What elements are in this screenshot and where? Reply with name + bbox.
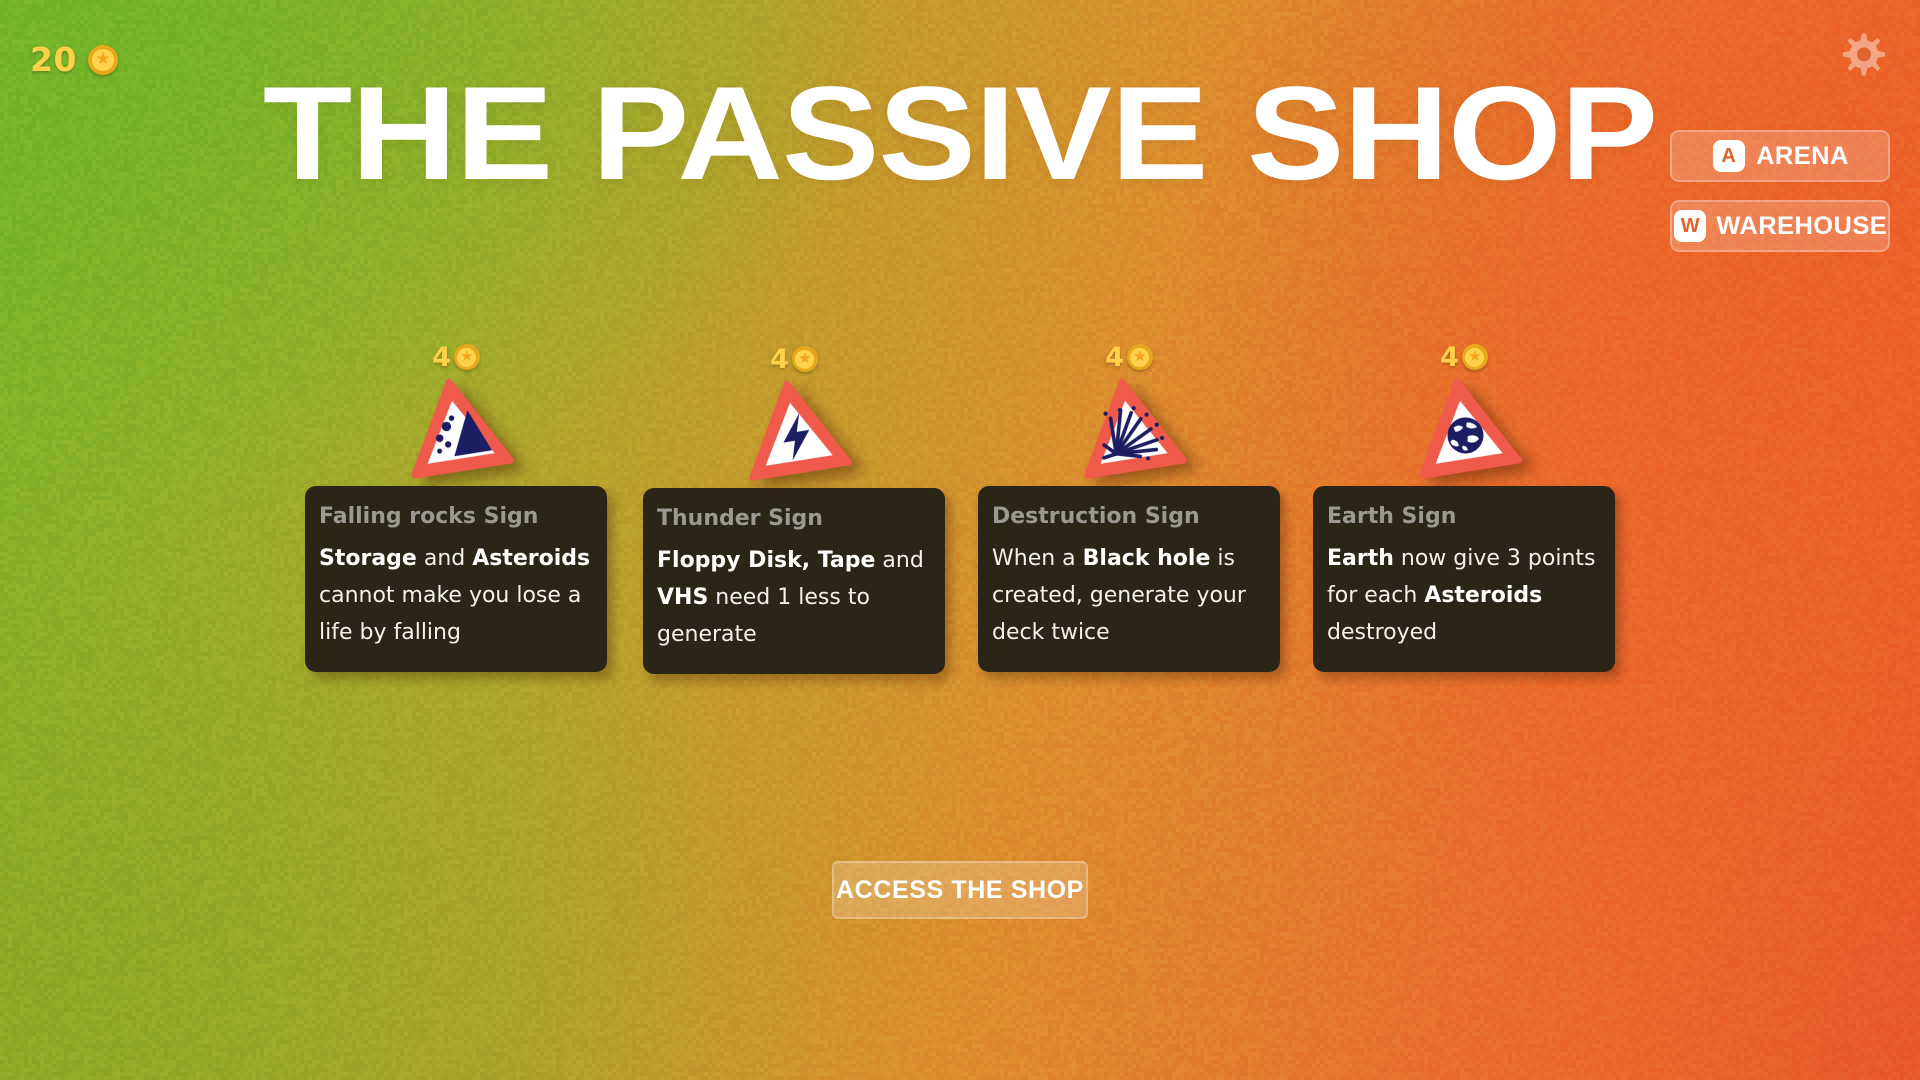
falling-rocks-sign-icon[interactable] <box>396 368 516 483</box>
shop-item[interactable]: 4 ★ <box>961 340 1297 672</box>
star-coin-icon: ★ <box>792 346 818 372</box>
item-tooltip: Thunder Sign Floppy Disk, Tape and VHS n… <box>643 488 945 674</box>
gear-icon[interactable] <box>1834 30 1890 86</box>
item-price: 4 ★ <box>770 342 818 376</box>
item-tooltip: Destruction Sign When a Black hole is cr… <box>978 486 1280 672</box>
item-description: When a Black hole is created, generate y… <box>992 541 1266 652</box>
nav-buttons: A ARENA W WAREHOUSE <box>1670 130 1890 252</box>
item-description: Storage and Asteroids cannot make you lo… <box>319 541 593 652</box>
destruction-sign-icon[interactable] <box>1069 368 1189 483</box>
item-tooltip: Earth Sign Earth now give 3 points for e… <box>1313 486 1615 672</box>
access-the-shop-label: ACCESS THE SHOP <box>836 876 1084 905</box>
item-price-value: 4 <box>770 344 789 375</box>
item-price: 4 ★ <box>432 340 480 374</box>
coin-amount: 20 <box>30 40 77 79</box>
item-price-value: 4 <box>432 342 451 373</box>
key-badge-w-icon: W <box>1674 210 1706 242</box>
warehouse-button[interactable]: W WAREHOUSE <box>1670 200 1890 252</box>
arena-button[interactable]: A ARENA <box>1670 130 1890 182</box>
game-screen: 20 ★ THE PASSIVE SHOP A ARENA W WAREHOUS… <box>0 0 1920 1080</box>
item-price: 4 ★ <box>1105 340 1153 374</box>
warehouse-button-label: WAREHOUSE <box>1717 212 1888 241</box>
item-price: 4 ★ <box>1440 340 1488 374</box>
star-coin-icon: ★ <box>88 45 118 75</box>
item-title: Falling rocks Sign <box>319 504 593 529</box>
star-coin-icon: ★ <box>1127 344 1153 370</box>
item-title: Earth Sign <box>1327 504 1601 529</box>
shop-items-row: 4 ★ Falling rocks S <box>288 340 1632 672</box>
earth-sign-icon[interactable] <box>1404 368 1524 483</box>
coin-counter: 20 ★ <box>30 40 118 79</box>
star-coin-icon: ★ <box>454 344 480 370</box>
arena-button-label: ARENA <box>1756 142 1849 171</box>
item-price-value: 4 <box>1105 342 1124 373</box>
page-title: THE PASSIVE SHOP <box>0 68 1920 201</box>
item-title: Destruction Sign <box>992 504 1266 529</box>
key-badge-a-icon: A <box>1713 140 1745 172</box>
item-description: Floppy Disk, Tape and VHS need 1 less to… <box>657 543 931 654</box>
item-description: Earth now give 3 points for each Asteroi… <box>1327 541 1601 652</box>
item-tooltip: Falling rocks Sign Storage and Asteroids… <box>305 486 607 672</box>
item-title: Thunder Sign <box>657 506 931 531</box>
item-price-value: 4 <box>1440 342 1459 373</box>
star-coin-icon: ★ <box>1462 344 1488 370</box>
access-the-shop-button[interactable]: ACCESS THE SHOP <box>832 861 1088 919</box>
shop-item[interactable]: 4 ★ <box>1296 340 1632 672</box>
thunder-sign-icon[interactable] <box>734 370 854 485</box>
shop-item[interactable]: 4 ★ Falling rocks S <box>288 340 624 672</box>
shop-item[interactable]: 4 ★ Thunder Sign Floppy Disk, Tape and V… <box>626 342 962 674</box>
